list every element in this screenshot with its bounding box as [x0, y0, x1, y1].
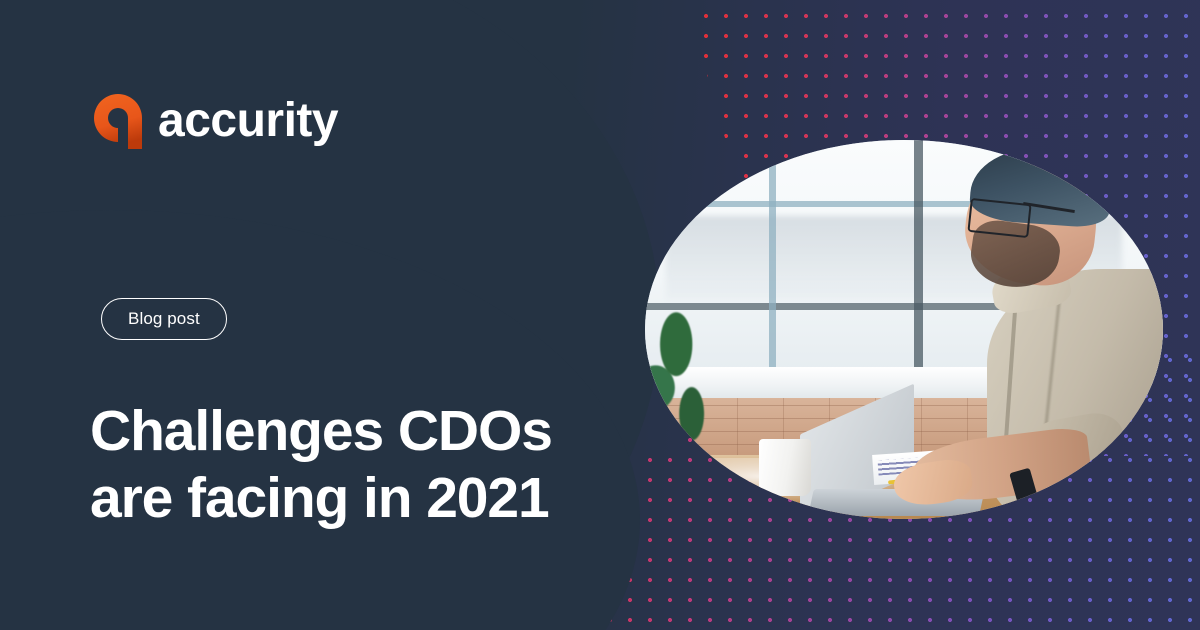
- category-badge[interactable]: Blog post: [101, 298, 227, 340]
- brand-logo[interactable]: accurity: [92, 92, 338, 150]
- blog-post-social-card: accurity Blog post Challenges CDOs are f…: [0, 0, 1200, 630]
- photo-mug: [759, 439, 811, 496]
- accurity-a-mark-icon: [92, 92, 146, 150]
- page-title: Challenges CDOs are facing in 2021: [90, 398, 630, 533]
- brand-wordmark: accurity: [158, 97, 338, 145]
- photo-window-frame: [914, 140, 923, 383]
- hero-photo: [645, 140, 1163, 519]
- photo-scene: [645, 140, 1163, 519]
- photo-person-glasses: [967, 198, 1031, 238]
- photo-plant: [645, 292, 738, 466]
- category-badge-label: Blog post: [128, 309, 200, 329]
- page-title-line-1: Challenges CDOs: [90, 399, 552, 463]
- photo-window-frame: [769, 140, 776, 383]
- page-title-line-2: are facing in 2021: [90, 465, 630, 532]
